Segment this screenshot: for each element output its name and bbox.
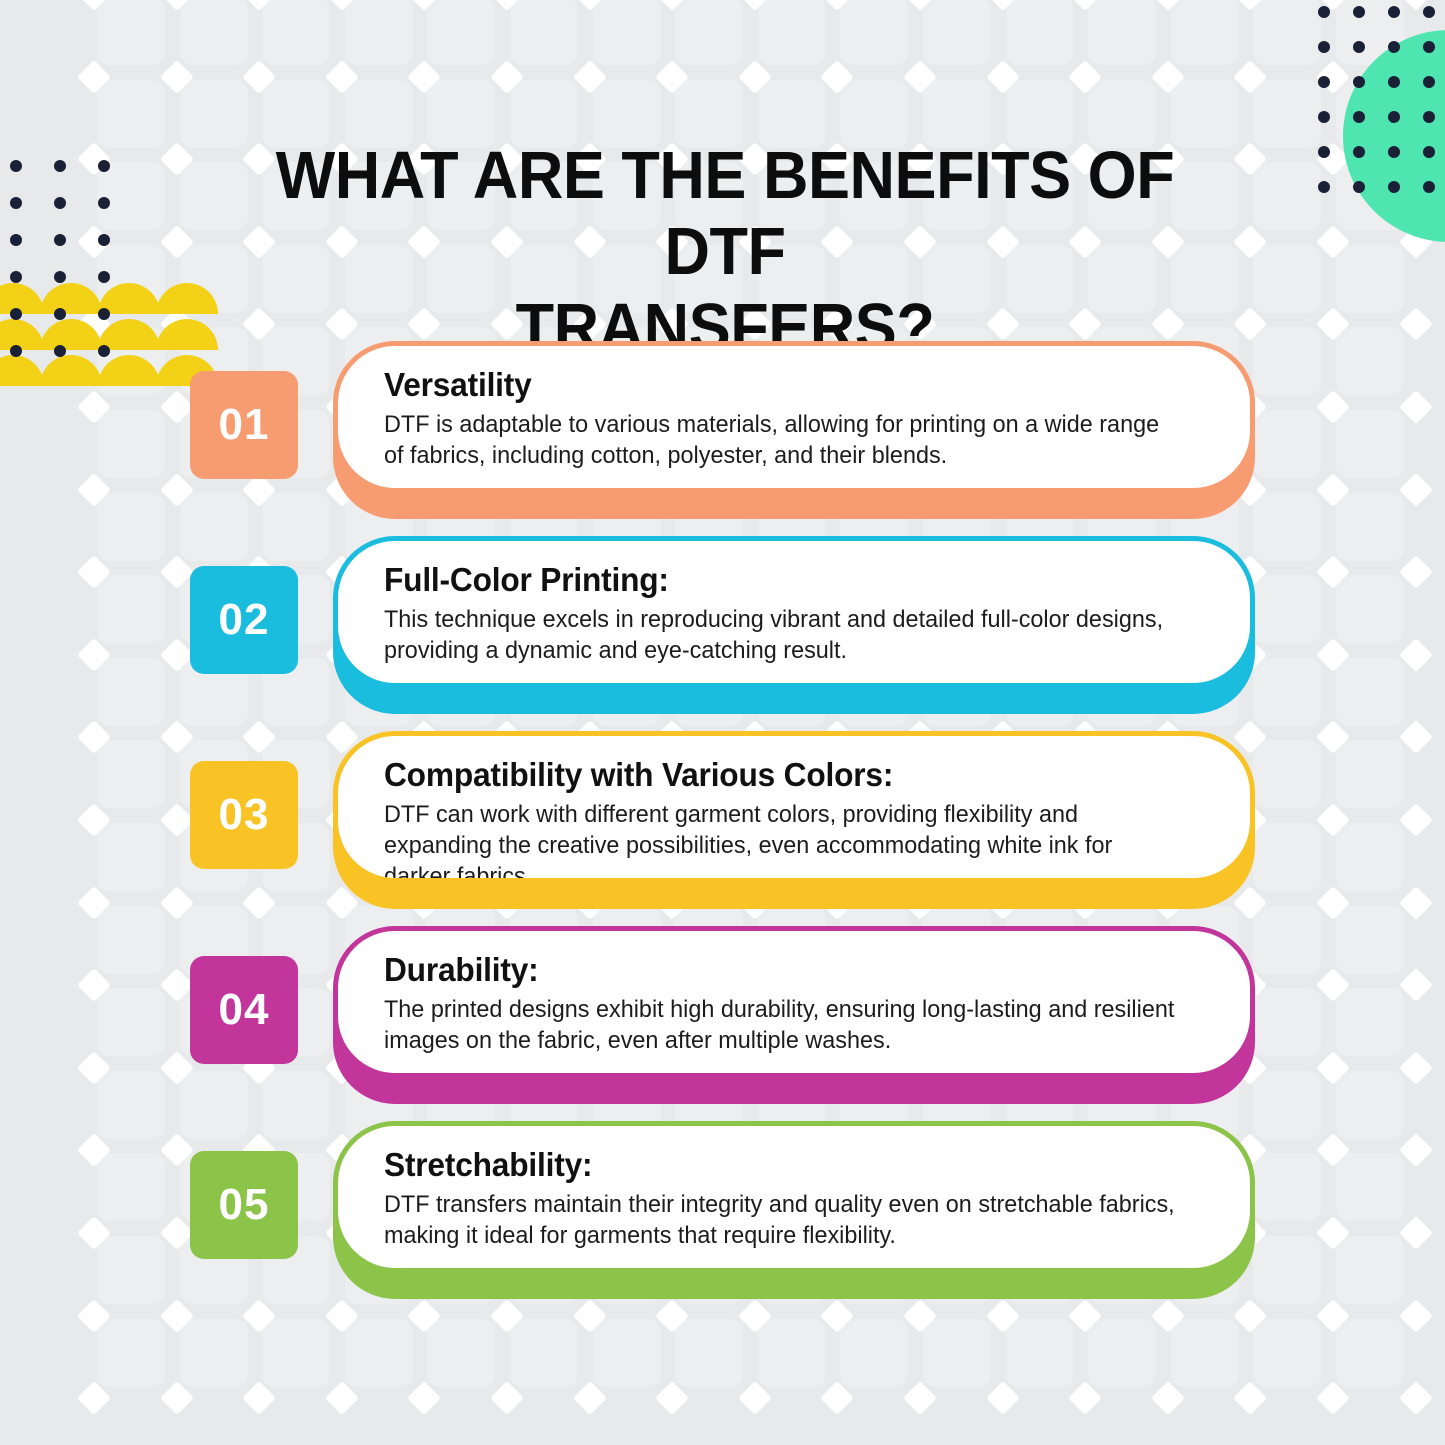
benefit-number-badge: 04	[190, 956, 298, 1064]
benefit-card-body: VersatilityDTF is adaptable to various m…	[333, 341, 1255, 493]
benefit-card-body: Compatibility with Various Colors:DTF ca…	[333, 731, 1255, 883]
benefit-description: The printed designs exhibit high durabil…	[384, 994, 1179, 1056]
benefit-number-badge: 01	[190, 371, 298, 479]
benefit-card: VersatilityDTF is adaptable to various m…	[333, 341, 1255, 519]
benefit-heading: Durability:	[384, 951, 1183, 989]
benefit-card-body: Full-Color Printing:This technique excel…	[333, 536, 1255, 688]
benefit-description: This technique excels in reproducing vib…	[384, 604, 1179, 666]
benefit-row: 04Durability:The printed designs exhibit…	[0, 926, 1445, 1121]
benefit-row: 03Compatibility with Various Colors:DTF …	[0, 731, 1445, 926]
benefit-row: 01VersatilityDTF is adaptable to various…	[0, 341, 1445, 536]
benefit-row: 05Stretchability:DTF transfers maintain …	[0, 1121, 1445, 1321]
benefit-card: Durability:The printed designs exhibit h…	[333, 926, 1255, 1104]
benefit-heading: Compatibility with Various Colors:	[384, 756, 1183, 794]
dot-grid-left	[10, 160, 110, 360]
benefit-card: Compatibility with Various Colors:DTF ca…	[333, 731, 1255, 909]
benefit-number-badge: 02	[190, 566, 298, 674]
benefit-heading: Stretchability:	[384, 1146, 1183, 1184]
benefit-number-badge: 05	[190, 1151, 298, 1259]
benefit-card-body: Durability:The printed designs exhibit h…	[333, 926, 1255, 1078]
benefit-card: Full-Color Printing:This technique excel…	[333, 536, 1255, 714]
teal-circle-decoration	[1343, 30, 1445, 242]
benefit-number-badge: 03	[190, 761, 298, 869]
benefit-card-body: Stretchability:DTF transfers maintain th…	[333, 1121, 1255, 1273]
benefit-card: Stretchability:DTF transfers maintain th…	[333, 1121, 1255, 1299]
infographic-poster: WHAT ARE THE BENEFITS OF DTF TRANSFERS? …	[0, 0, 1445, 1445]
benefits-list: 01VersatilityDTF is adaptable to various…	[0, 341, 1445, 1321]
benefit-description: DTF transfers maintain their integrity a…	[384, 1189, 1179, 1251]
page-title: WHAT ARE THE BENEFITS OF DTF TRANSFERS?	[208, 138, 1242, 366]
benefit-row: 02Full-Color Printing:This technique exc…	[0, 536, 1445, 731]
benefit-description: DTF can work with different garment colo…	[384, 799, 1179, 883]
benefit-heading: Versatility	[384, 366, 1183, 404]
benefit-heading: Full-Color Printing:	[384, 561, 1183, 599]
benefit-description: DTF is adaptable to various materials, a…	[384, 409, 1179, 471]
